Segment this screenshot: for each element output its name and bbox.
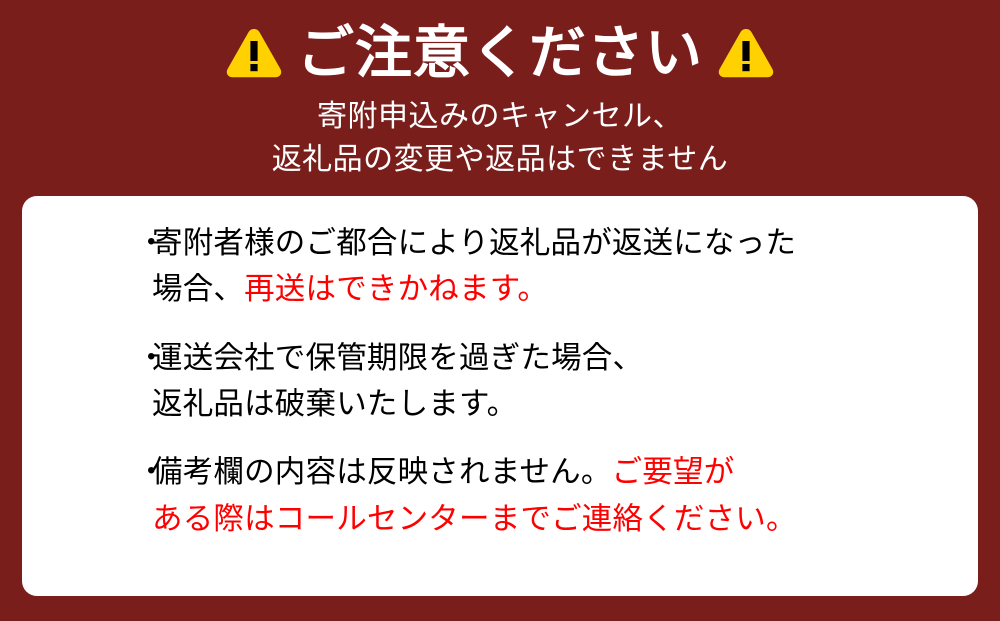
warning-banner: ご注意ください 寄附申込みのキャンセル、 返礼品の変更や返品はできません ・ 寄… (0, 0, 1000, 621)
subtitle-line-2: 返礼品の変更や返品はできません (0, 139, 1000, 182)
note-text-red: ある際はコールセンターまでご連絡ください。 (152, 502, 797, 536)
note-line: 備考欄の内容は反映されません。ご要望が (152, 449, 956, 495)
title-row: ご注意ください (0, 18, 1000, 88)
note-text-black: 返礼品は破棄いたします。 (152, 387, 517, 421)
note-bullet: ・ (136, 335, 152, 381)
note-line: 寄附者様のご都合により返礼品が返送になった (152, 220, 956, 266)
warning-triangle-icon-right (717, 27, 775, 79)
note-item: ・ 運送会社で保管期限を過ぎた場合、 返礼品は破棄いたします。 (136, 335, 956, 428)
note-bullet: ・ (136, 220, 152, 266)
warning-triangle-icon-left (225, 27, 283, 79)
note-text-black: 場合、 (152, 272, 244, 306)
page-title: ご注意ください (297, 25, 703, 82)
note-bullet: ・ (136, 449, 152, 495)
note-text-black: 寄附者様のご都合により返礼品が返送になった (152, 226, 796, 260)
banner-header: ご注意ください 寄附申込みのキャンセル、 返礼品の変更や返品はできません (0, 0, 1000, 196)
subtitle-line-1: 寄附申込みのキャンセル、 (0, 96, 1000, 139)
notes-card: ・ 寄附者様のご都合により返礼品が返送になった 場合、再送はできかねます。 ・ … (22, 196, 978, 596)
note-text-black: 備考欄の内容は反映されません。 (152, 455, 612, 489)
notes-list: ・ 寄附者様のご都合により返礼品が返送になった 場合、再送はできかねます。 ・ … (136, 220, 956, 542)
note-text-red: ご要望が (612, 455, 735, 489)
note-text-red: 再送はできかねます。 (244, 272, 548, 306)
note-item: ・ 備考欄の内容は反映されません。ご要望が ある際はコールセンターまでご連絡くだ… (136, 449, 956, 542)
note-body: 運送会社で保管期限を過ぎた場合、 返礼品は破棄いたします。 (136, 335, 956, 428)
note-line: ある際はコールセンターまでご連絡ください。 (152, 496, 956, 542)
note-body: 備考欄の内容は反映されません。ご要望が ある際はコールセンターまでご連絡ください… (136, 449, 956, 542)
banner-subtitle: 寄附申込みのキャンセル、 返礼品の変更や返品はできません (0, 96, 1000, 181)
note-line: 場合、再送はできかねます。 (152, 266, 956, 312)
note-item: ・ 寄附者様のご都合により返礼品が返送になった 場合、再送はできかねます。 (136, 220, 956, 313)
note-line: 運送会社で保管期限を過ぎた場合、 (152, 335, 956, 381)
note-line: 返礼品は破棄いたします。 (152, 381, 956, 427)
note-text-black: 運送会社で保管期限を過ぎた場合、 (152, 341, 643, 375)
note-body: 寄附者様のご都合により返礼品が返送になった 場合、再送はできかねます。 (136, 220, 956, 313)
